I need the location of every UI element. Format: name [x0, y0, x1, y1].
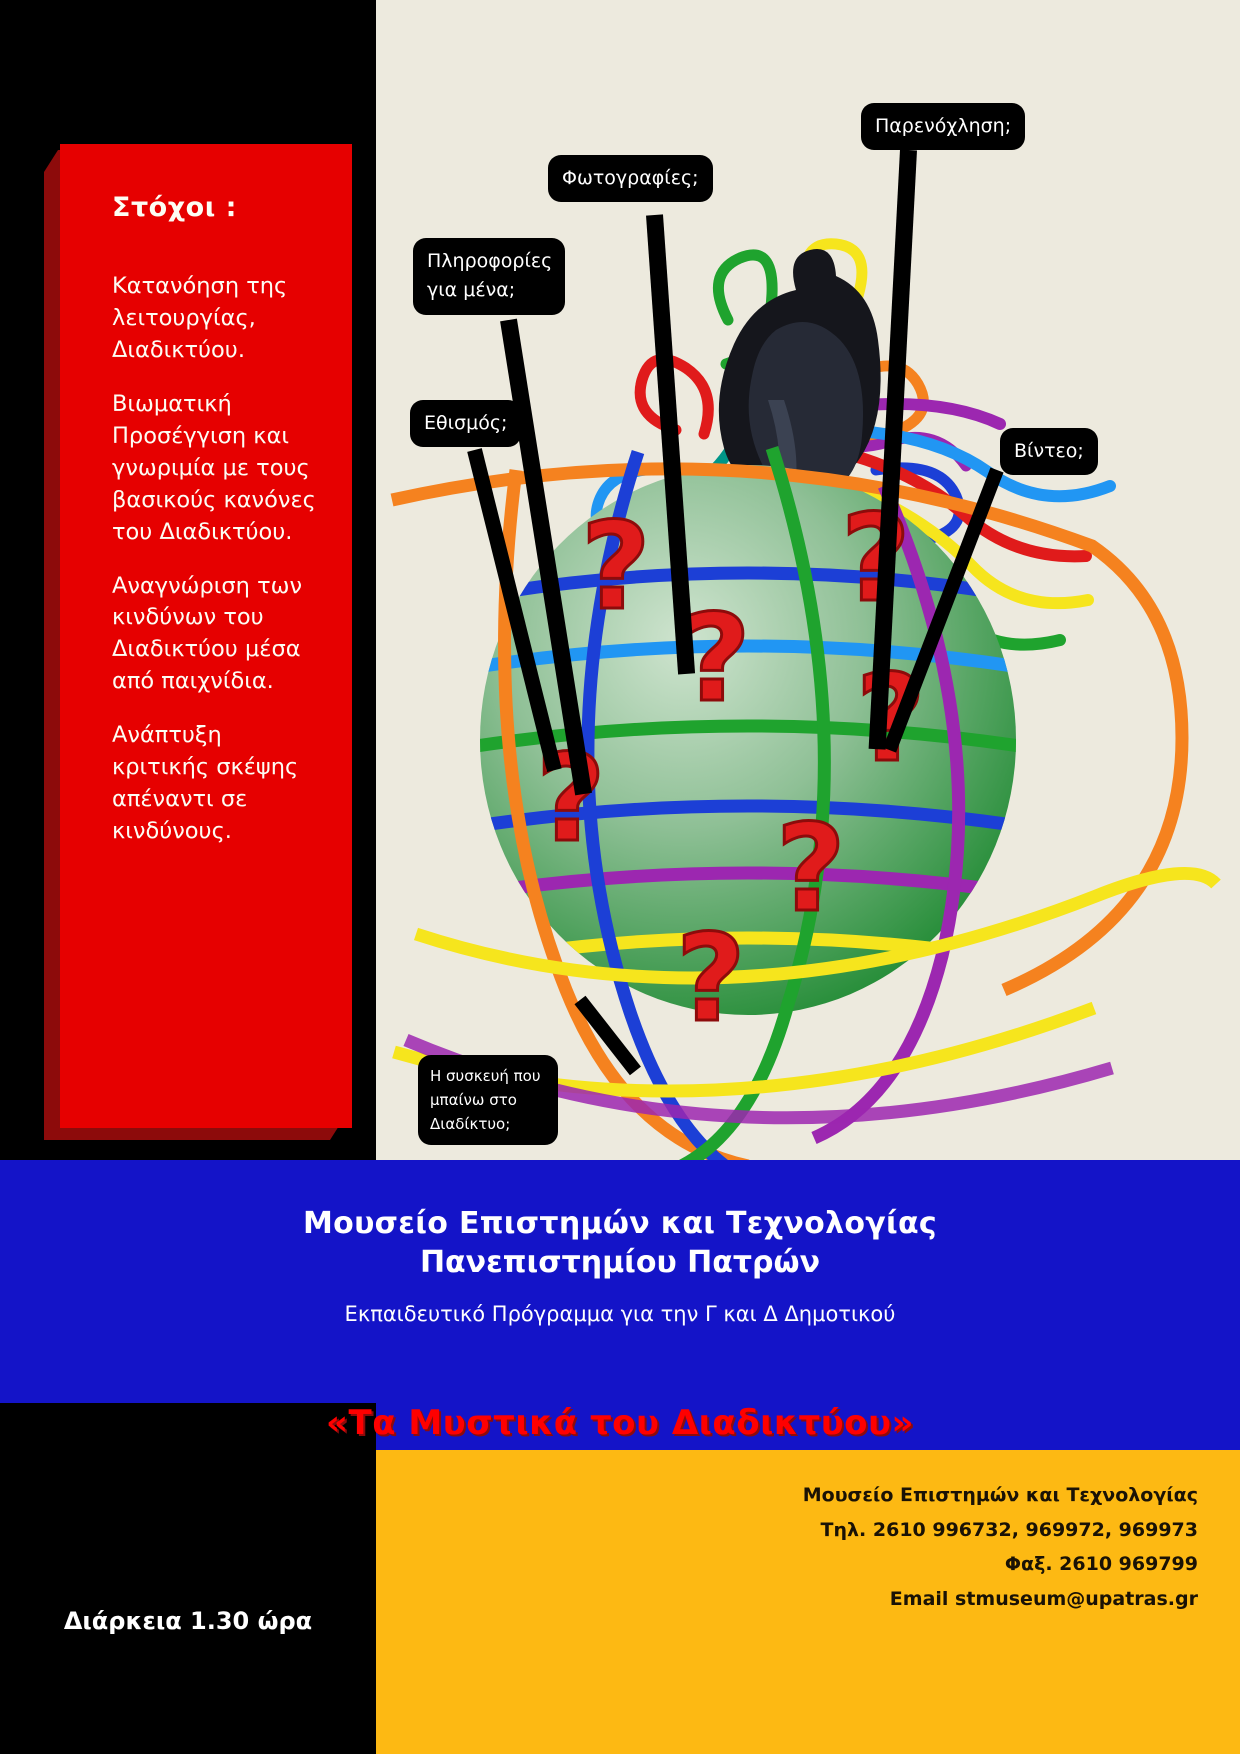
poster-root: ? ? ? ? ? ? ? Πληροφορίες για μένα; Φωτο…	[0, 0, 1240, 1754]
svg-text:?: ?	[581, 498, 651, 637]
contact-email: Email stmuseum@upatras.gr	[376, 1582, 1198, 1617]
program-title: «Τα Μυστικά του Διαδικτύου»	[0, 1403, 1240, 1443]
duration-label: Διάρκεια 1.30 ώρα	[0, 1450, 376, 1754]
organisation-band: Μουσείο Επιστημών και Τεχνολογίας Πανεπι…	[0, 1160, 1240, 1403]
callout-video[interactable]: Βίντεο;	[1000, 428, 1098, 475]
objectives-heading: Στόχοι :	[112, 192, 324, 223]
program-subtitle: Εκπαιδευτικό Πρόγραμμα για την Γ και Δ Δ…	[0, 1302, 1240, 1326]
callout-harassment[interactable]: Παρενόχληση;	[861, 103, 1025, 150]
svg-text:?: ?	[776, 800, 846, 939]
callout-device[interactable]: Η συσκευή που μπαίνω στο Διαδίκτυο;	[418, 1055, 558, 1145]
objective-item: Αναγνώριση των κινδύνων του Διαδικτύου μ…	[112, 571, 324, 699]
org-name-line2: Πανεπιστημίου Πατρών	[0, 1245, 1240, 1280]
contact-org: Μουσείο Επιστημών και Τεχνολογίας	[376, 1478, 1198, 1513]
objective-item: Βιωματική Προσέγγιση και γνωριμία με του…	[112, 389, 324, 549]
contact-fax: Φαξ. 2610 969799	[376, 1547, 1198, 1582]
org-name-line1: Μουσείο Επιστημών και Τεχνολογίας	[0, 1160, 1240, 1241]
callout-photographs[interactable]: Φωτογραφίες;	[548, 155, 713, 202]
callout-addiction[interactable]: Εθισμός;	[410, 400, 521, 447]
contact-phone: Τηλ. 2610 996732, 969972, 969973	[376, 1513, 1198, 1548]
callout-information-about-me[interactable]: Πληροφορίες για μένα;	[413, 238, 565, 315]
objective-item: Ανάπτυξη κριτικής σκέψης απέναντι σε κιν…	[112, 720, 324, 848]
objective-item: Κατανόηση της λειτουργίας, Διαδικτύου.	[112, 271, 324, 367]
svg-text:?: ?	[676, 910, 746, 1049]
contact-box: Μουσείο Επιστημών και Τεχνολογίας Τηλ. 2…	[376, 1450, 1240, 1754]
objectives-card: Στόχοι : Κατανόηση της λειτουργίας, Διαδ…	[60, 144, 352, 1128]
